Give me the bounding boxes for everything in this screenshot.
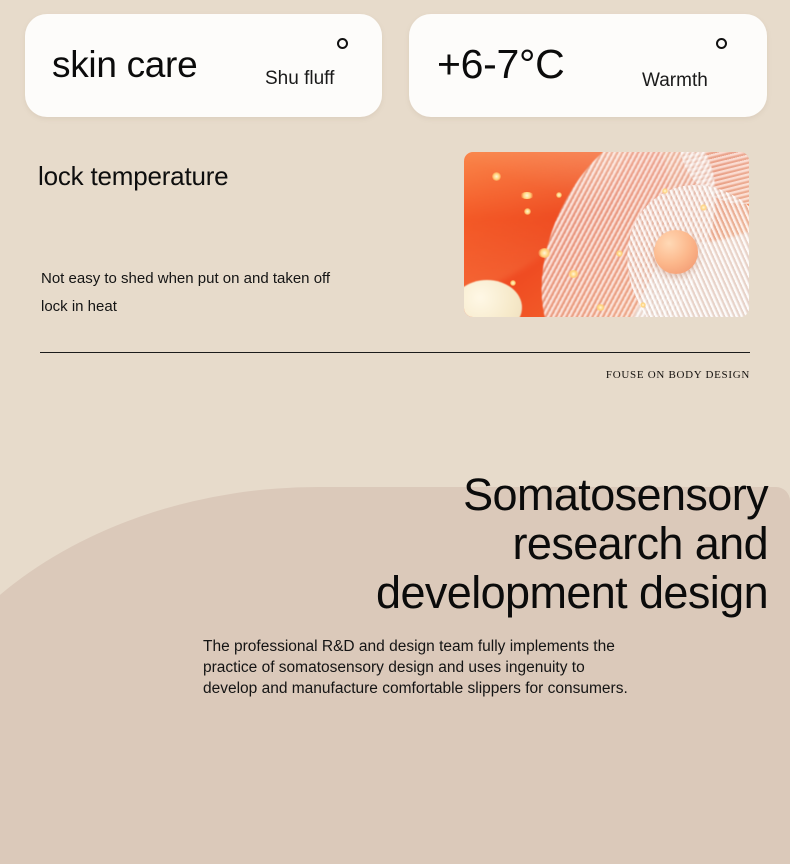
feature-description: Not easy to shed when put on and taken o…: [41, 265, 441, 321]
hero-paragraph-line: practice of somatosensory design and use…: [203, 657, 748, 678]
hero-heading: Somatosensory research and development d…: [288, 470, 768, 617]
hero-paragraph-line: The professional R&D and design team ful…: [203, 636, 748, 657]
hero-heading-line: Somatosensory: [288, 470, 768, 519]
circle-outline-icon: [337, 38, 348, 49]
hero-paragraph: The professional R&D and design team ful…: [203, 636, 748, 699]
badge-card-warmth[interactable]: +6-7°C Warmth: [409, 14, 767, 117]
feature-description-line: Not easy to shed when put on and taken o…: [41, 265, 441, 293]
section-divider: [40, 352, 750, 353]
circle-outline-icon: [716, 38, 727, 49]
image-gloss-overlay: [464, 152, 749, 317]
hero-heading-line: development design: [288, 568, 768, 617]
badge-value: +6-7°C: [437, 41, 564, 88]
badge-card-skin-care[interactable]: skin care Shu fluff: [25, 14, 382, 117]
badge-label: Warmth: [642, 70, 708, 92]
kicker-text: FOUSE ON BODY DESIGN: [606, 369, 750, 381]
hero-paragraph-line: develop and manufacture comfortable slip…: [203, 678, 748, 699]
feature-title: lock temperature: [38, 161, 228, 192]
badge-label: Shu fluff: [265, 68, 334, 90]
feature-description-line: lock in heat: [41, 293, 441, 321]
product-detail-page: skin care Shu fluff +6-7°C Warmth lock t…: [0, 0, 790, 864]
badge-value: skin care: [52, 44, 197, 86]
product-image: [464, 152, 749, 317]
hero-heading-line: research and: [288, 519, 768, 568]
